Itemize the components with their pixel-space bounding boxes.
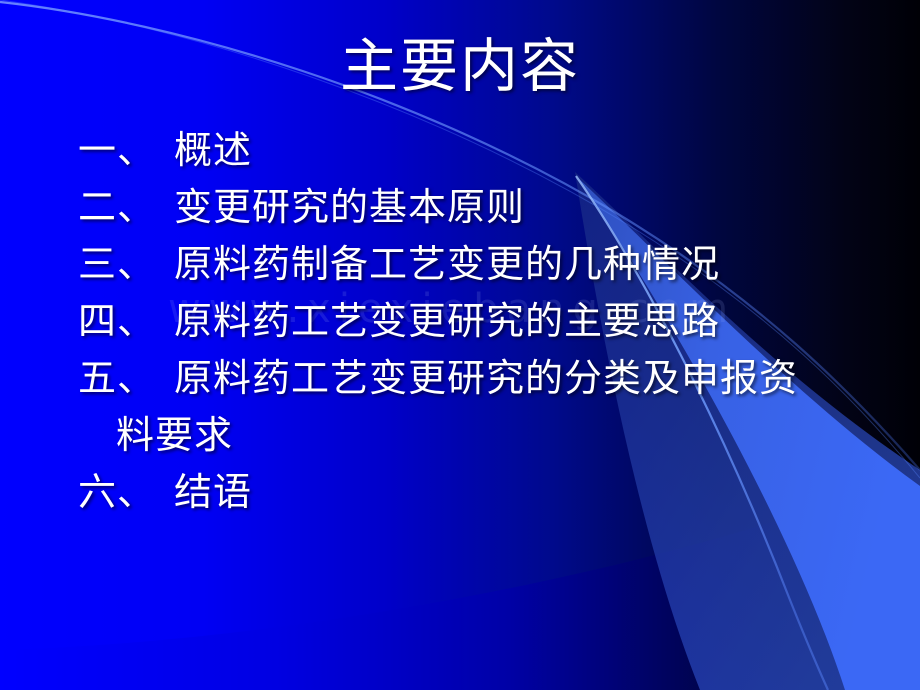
list-item-marker: 一、	[78, 122, 156, 179]
list-item-wrapped-line: 料要求	[78, 407, 878, 464]
list-item[interactable]: 六、结语	[78, 464, 878, 521]
list-item-label: 概述	[174, 128, 252, 172]
list-item-marker: 三、	[78, 236, 156, 293]
list-item[interactable]: 一、概述	[78, 122, 878, 179]
list-item-marker: 四、	[78, 293, 156, 350]
list-item-label: 结语	[174, 470, 252, 514]
list-item-marker: 二、	[78, 179, 156, 236]
slide-content: www.xiexiebang.com 主要内容 一、概述 二、变更研究的基本原则…	[0, 0, 920, 690]
list-item-label: 变更研究的基本原则	[174, 185, 525, 229]
list-item-label: 原料药工艺变更研究的主要思路	[174, 299, 720, 343]
list-item[interactable]: 二、变更研究的基本原则	[78, 179, 878, 236]
presentation-slide: www.xiexiebang.com 主要内容 一、概述 二、变更研究的基本原则…	[0, 0, 920, 690]
list-item-marker: 六、	[78, 464, 156, 521]
page-title: 主要内容	[0, 30, 920, 102]
table-of-contents: 一、概述 二、变更研究的基本原则 三、原料药制备工艺变更的几种情况 四、原料药工…	[78, 122, 878, 521]
list-item[interactable]: 四、原料药工艺变更研究的主要思路	[78, 293, 878, 350]
list-item-label: 原料药制备工艺变更的几种情况	[174, 242, 720, 286]
list-item-label: 原料药工艺变更研究的分类及申报资	[174, 356, 798, 400]
list-item[interactable]: 三、原料药制备工艺变更的几种情况	[78, 236, 878, 293]
list-item[interactable]: 五、原料药工艺变更研究的分类及申报资	[78, 350, 878, 407]
list-item-marker: 五、	[78, 350, 156, 407]
